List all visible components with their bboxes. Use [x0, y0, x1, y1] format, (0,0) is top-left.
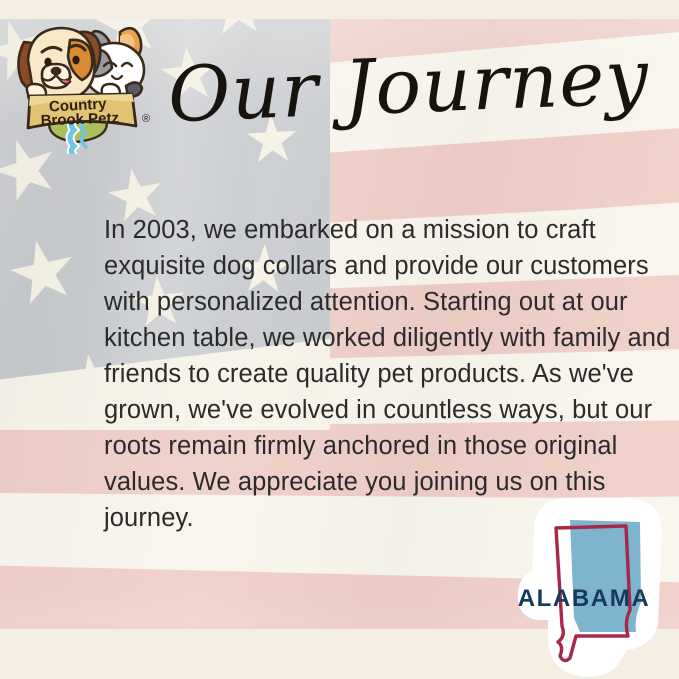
logo-banner-line2: Brook Petz [40, 110, 119, 130]
alabama-state-badge[interactable]: ALABAMA [494, 492, 679, 679]
logo-trademark-icon: ® [142, 113, 150, 125]
state-shape-fill [570, 520, 641, 632]
page-title: Our Journey [167, 39, 651, 133]
state-name-label: ALABAMA [508, 585, 660, 613]
country-brook-petz-logo[interactable]: Country Brook Petz ® [8, 14, 160, 154]
journey-paragraph: In 2003, we embarked on a mission to cra… [104, 212, 672, 536]
poster-canvas: Country Brook Petz ® Our Journey In 2003… [0, 0, 679, 679]
